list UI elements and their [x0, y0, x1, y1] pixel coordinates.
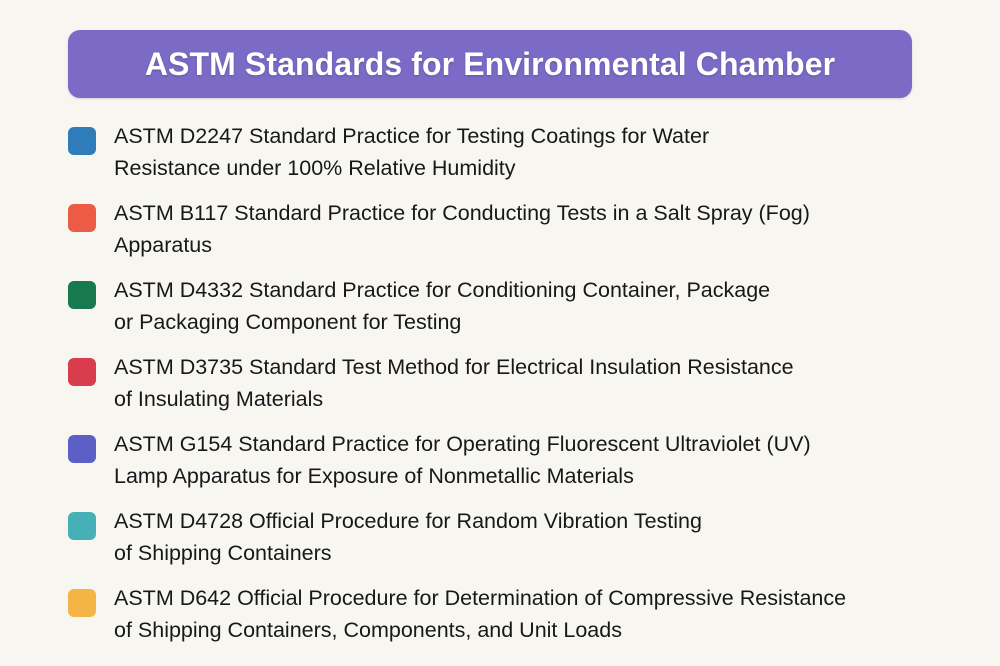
list-item-line-2: or Packaging Component for Testing [114, 306, 1000, 338]
list-item: ASTM D642 Official Procedure for Determi… [0, 580, 1000, 657]
list-item-line-1: ASTM D642 Official Procedure for Determi… [114, 582, 1000, 614]
astm-standards-slide: ASTM Standards for Environmental Chamber… [0, 0, 1000, 666]
color-swatch-icon [68, 358, 96, 386]
list-item-line-2: Lamp Apparatus for Exposure of Nonmetall… [114, 460, 1000, 492]
list-item: ASTM B117 Standard Practice for Conducti… [0, 195, 1000, 272]
list-item-line-1: ASTM D4332 Standard Practice for Conditi… [114, 274, 1000, 306]
color-swatch-icon [68, 512, 96, 540]
color-swatch-icon [68, 435, 96, 463]
standards-list: ASTM D2247 Standard Practice for Testing… [0, 118, 1000, 657]
list-item-line-1: ASTM D4728 Official Procedure for Random… [114, 505, 1000, 537]
list-item-line-1: ASTM B117 Standard Practice for Conducti… [114, 197, 1000, 229]
color-swatch-icon [68, 127, 96, 155]
list-item-line-2: of Shipping Containers [114, 537, 1000, 569]
list-item: ASTM D4332 Standard Practice for Conditi… [0, 272, 1000, 349]
list-item-line-1: ASTM D3735 Standard Test Method for Elec… [114, 351, 1000, 383]
list-item-text: ASTM D3735 Standard Test Method for Elec… [114, 349, 1000, 415]
list-item: ASTM G154 Standard Practice for Operatin… [0, 426, 1000, 503]
list-item-line-1: ASTM D2247 Standard Practice for Testing… [114, 120, 1000, 152]
color-swatch-icon [68, 204, 96, 232]
list-item-line-1: ASTM G154 Standard Practice for Operatin… [114, 428, 1000, 460]
list-item-text: ASTM D2247 Standard Practice for Testing… [114, 118, 1000, 184]
header-banner: ASTM Standards for Environmental Chamber [68, 30, 912, 98]
color-swatch-icon [68, 281, 96, 309]
list-item: ASTM D2247 Standard Practice for Testing… [0, 118, 1000, 195]
list-item-text: ASTM B117 Standard Practice for Conducti… [114, 195, 1000, 261]
list-item-line-2: Apparatus [114, 229, 1000, 261]
list-item: ASTM D3735 Standard Test Method for Elec… [0, 349, 1000, 426]
list-item-text: ASTM D4728 Official Procedure for Random… [114, 503, 1000, 569]
list-item-line-2: of Shipping Containers, Components, and … [114, 614, 1000, 646]
list-item-line-2: Resistance under 100% Relative Humidity [114, 152, 1000, 184]
list-item: ASTM D4728 Official Procedure for Random… [0, 503, 1000, 580]
page-title: ASTM Standards for Environmental Chamber [145, 48, 835, 80]
list-item-text: ASTM G154 Standard Practice for Operatin… [114, 426, 1000, 492]
color-swatch-icon [68, 589, 96, 617]
list-item-text: ASTM D642 Official Procedure for Determi… [114, 580, 1000, 646]
list-item-text: ASTM D4332 Standard Practice for Conditi… [114, 272, 1000, 338]
list-item-line-2: of Insulating Materials [114, 383, 1000, 415]
